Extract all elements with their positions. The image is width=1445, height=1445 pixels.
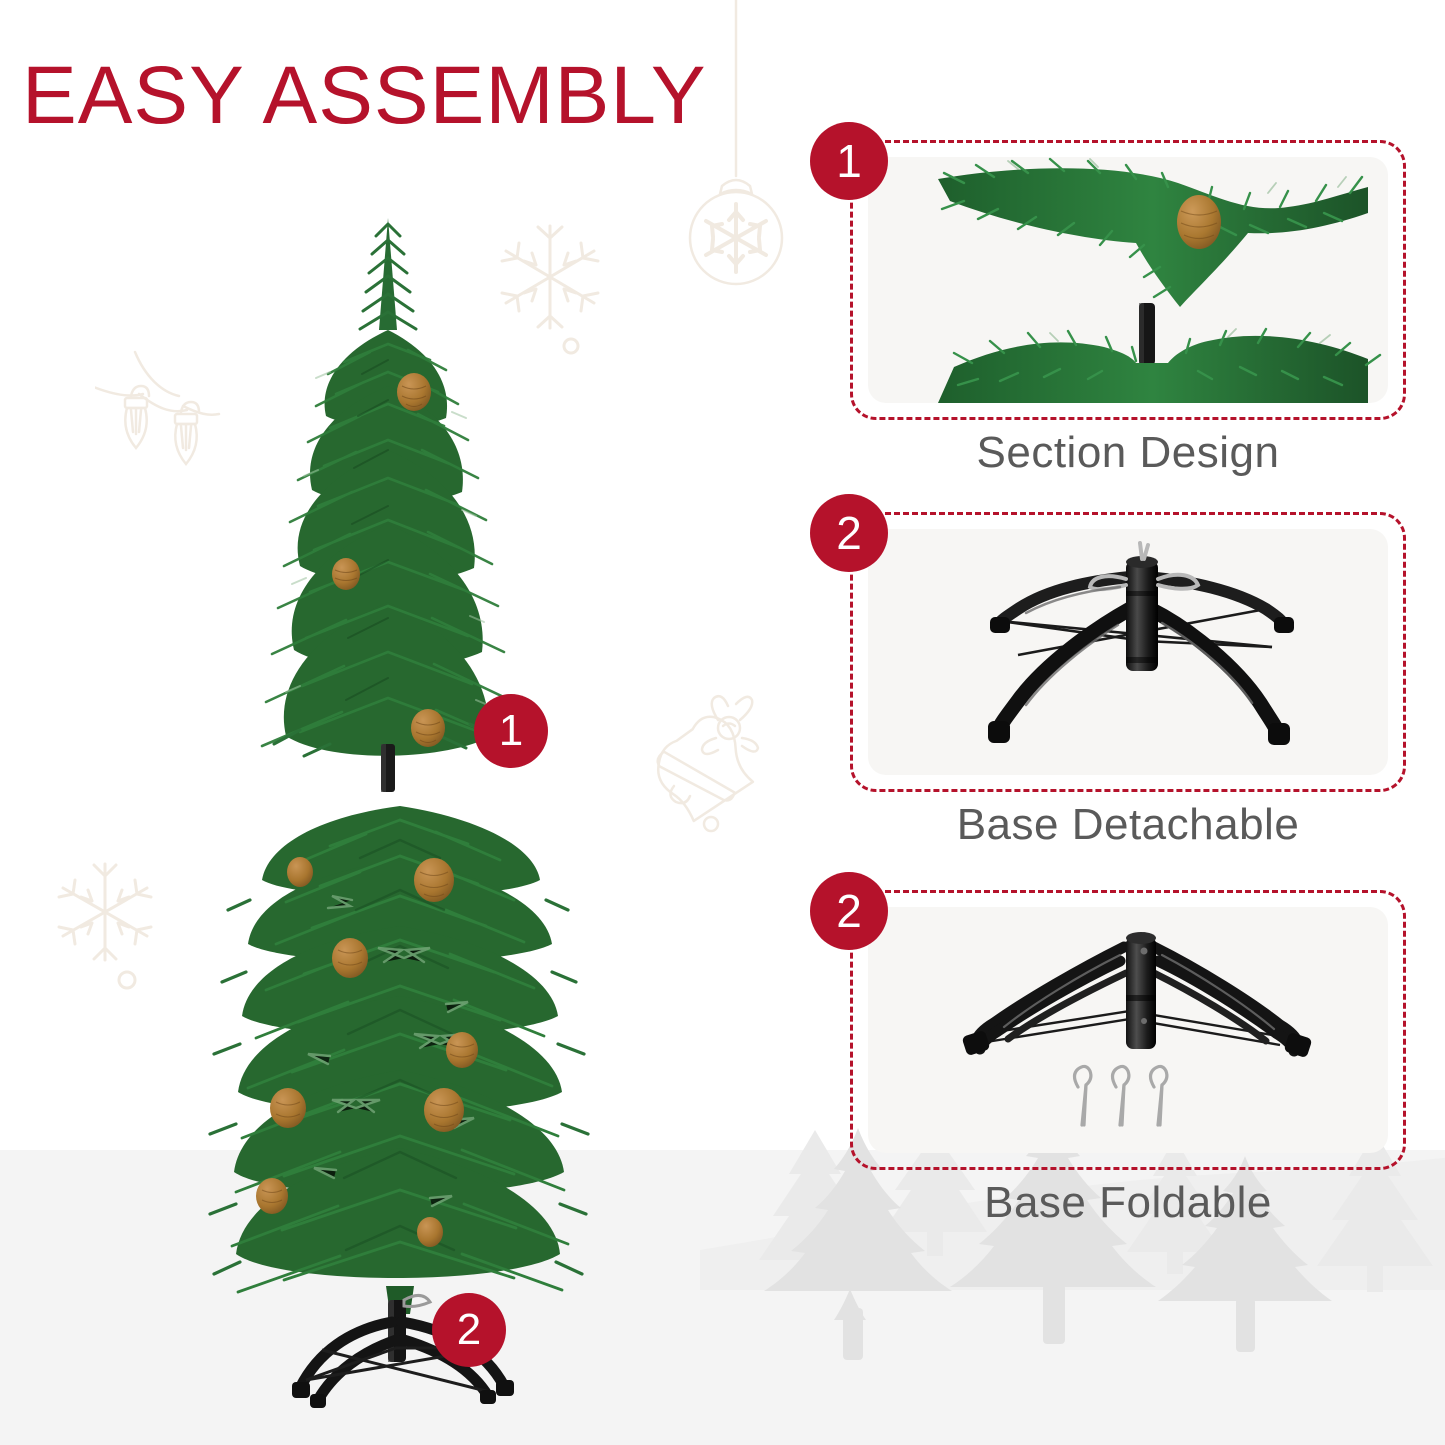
feature-badge-1: 1	[810, 122, 888, 200]
feature-badge-2: 2	[810, 494, 888, 572]
feature-badge-3: 2	[810, 872, 888, 950]
feature-caption-1: Section Design	[850, 428, 1406, 478]
feature-image-section-design	[868, 157, 1388, 403]
product-photo-tree	[0, 0, 760, 1445]
product-marker-2: 2	[432, 1293, 506, 1367]
product-marker-1: 1	[474, 694, 548, 768]
infographic-canvas: EASY ASSEMBLY	[0, 0, 1445, 1445]
feature-image-base-detachable	[868, 529, 1388, 775]
feature-caption-3: Base Foldable	[850, 1178, 1406, 1228]
feature-caption-2: Base Detachable	[850, 800, 1406, 850]
feature-image-base-foldable	[868, 907, 1388, 1153]
